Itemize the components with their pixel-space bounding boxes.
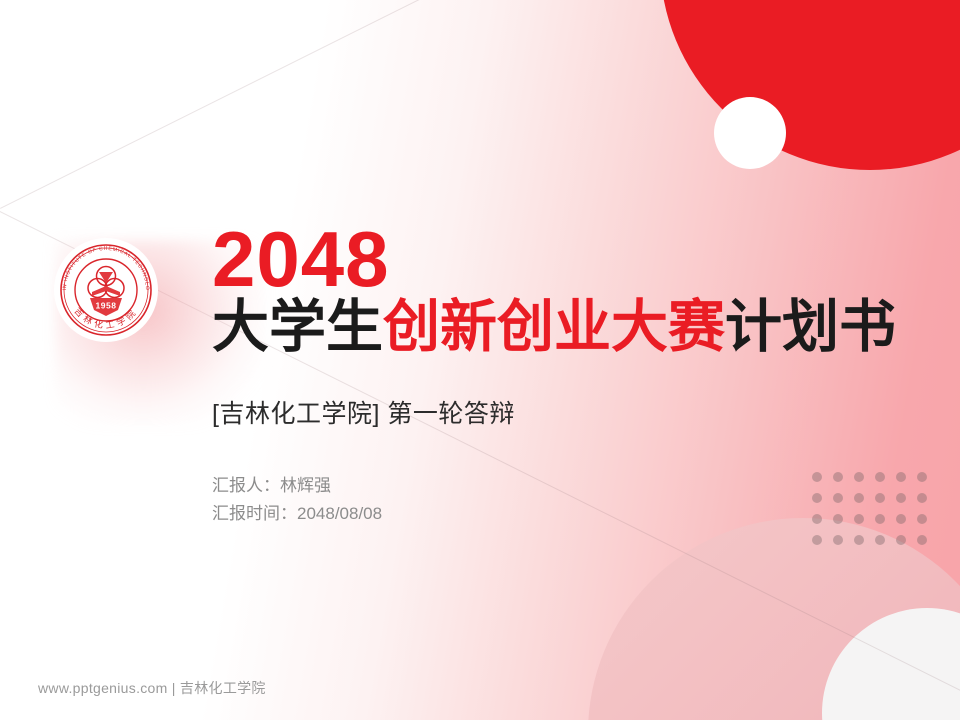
title-segment-1: 大学生 <box>212 295 383 359</box>
grid-dot <box>917 514 927 524</box>
presentation-slide: JILIN INSTITUTE OF CHEMICAL TECHNOLOGY 吉… <box>0 0 960 720</box>
presenter-line: 汇报人：林辉强 <box>212 472 912 500</box>
grid-dot <box>854 535 864 545</box>
footer-credit: www.pptgenius.com | 吉林化工学院 <box>38 678 266 698</box>
year-heading: 2048 <box>212 222 912 296</box>
grid-dot <box>917 472 927 482</box>
title-segment-3: 计划书 <box>725 295 896 359</box>
grid-dot <box>812 535 822 545</box>
grid-dot <box>896 535 906 545</box>
grid-dot <box>917 493 927 503</box>
grid-dot <box>917 535 927 545</box>
title-text-block: 2048 大学生创新创业大赛计划书 [吉林化工学院] 第一轮答辩 汇报人：林辉强… <box>212 222 912 528</box>
presentation-meta: 汇报人：林辉强 汇报时间：2048/08/08 <box>212 472 912 528</box>
title-segment-2-accent: 创新创业大赛 <box>383 295 725 359</box>
white-circle-decoration-top <box>714 97 786 169</box>
page-title: 大学生创新创业大赛计划书 <box>212 298 912 358</box>
grid-dot <box>833 535 843 545</box>
university-seal-logo: JILIN INSTITUTE OF CHEMICAL TECHNOLOGY 吉… <box>52 236 160 344</box>
date-line: 汇报时间：2048/08/08 <box>212 500 912 528</box>
red-circle-decoration-top <box>660 0 960 170</box>
grid-dot <box>875 535 885 545</box>
subtitle: [吉林化工学院] 第一轮答辩 <box>212 394 912 430</box>
svg-text:1958: 1958 <box>96 301 117 311</box>
